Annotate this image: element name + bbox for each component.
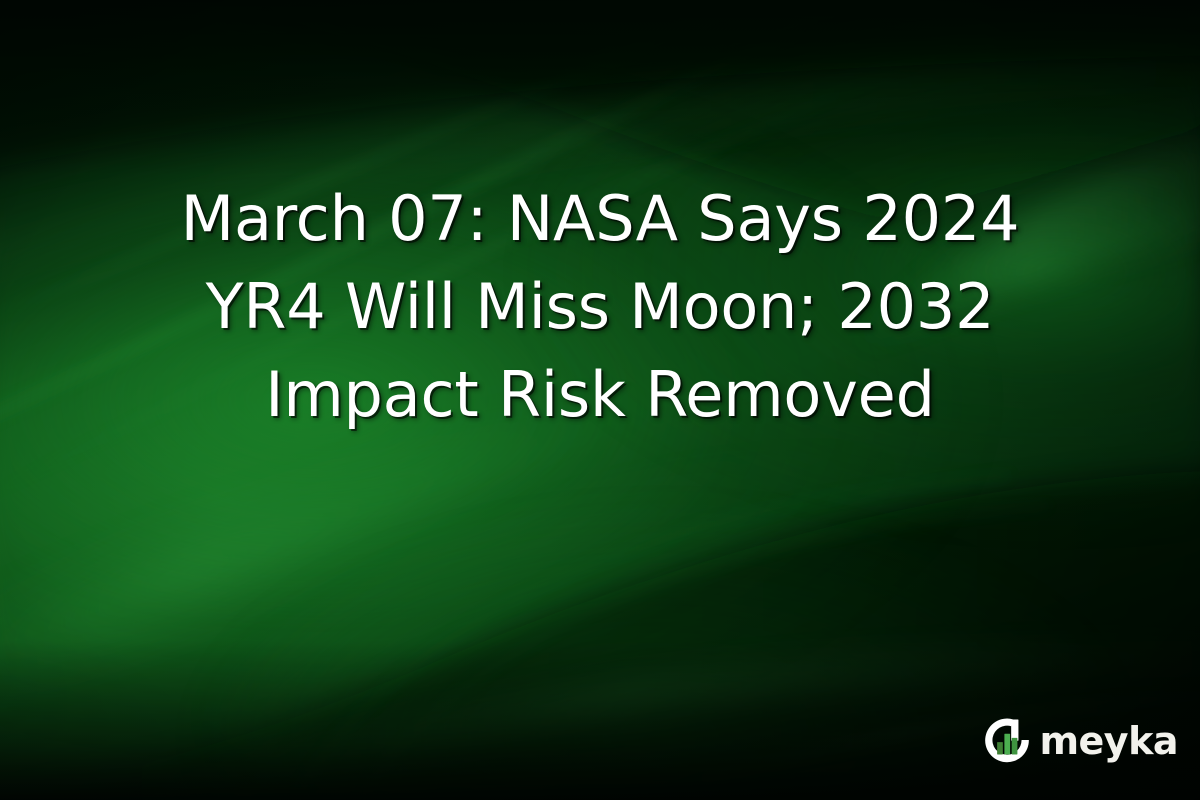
logo-wordmark: meyka: [1039, 722, 1178, 760]
bar-left: [998, 742, 1004, 754]
bar-middle: [1005, 734, 1011, 755]
bar-right: [1012, 738, 1018, 755]
meyka-bar-chart-ring-icon: [981, 714, 1033, 766]
ring-tab: [1012, 719, 1019, 740]
wave-arc-faint-2: [360, 506, 1050, 800]
news-card: March 07: NASA Says 2024 YR4 Will Miss M…: [0, 0, 1200, 800]
wave-arc-faint-1: [300, 476, 1010, 790]
wave-crescent-top: [0, 0, 1200, 180]
wave-swirl-center: [220, 450, 1000, 760]
headline-text: March 07: NASA Says 2024 YR4 Will Miss M…: [0, 175, 1200, 439]
meyka-logo[interactable]: meyka: [981, 714, 1178, 766]
